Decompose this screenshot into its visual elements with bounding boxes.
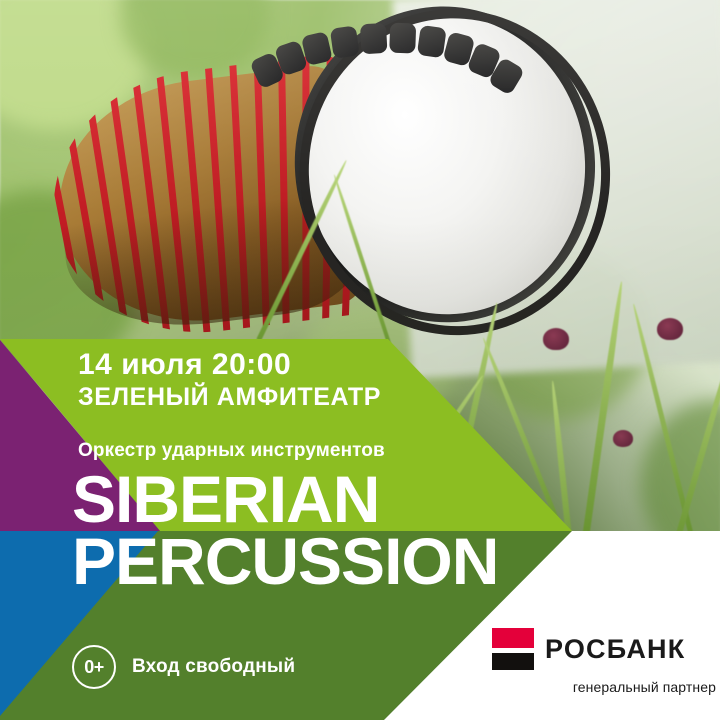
admission-row: 0+ Вход свободный xyxy=(72,645,295,689)
rosbank-square-logo-icon xyxy=(492,628,534,670)
logo-red-block xyxy=(492,628,534,648)
free-entry-label: Вход свободный xyxy=(132,656,295,678)
sponsor-name: РОСБАНК xyxy=(545,636,685,663)
event-date-time: 14 июля 20:00 xyxy=(78,350,291,381)
sponsor-role: генеральный партнер xyxy=(492,679,716,695)
event-subtitle: Оркестр ударных инструментов xyxy=(78,440,385,462)
age-rating-badge: 0+ xyxy=(72,645,116,689)
sponsor-block: РОСБАНК генеральный партнер xyxy=(492,628,716,695)
event-venue: ЗЕЛЕНЫЙ АМФИТЕАТР xyxy=(78,385,381,411)
event-title-line-2: PERCUSSION xyxy=(72,530,498,592)
sponsor-logo-row: РОСБАНК xyxy=(492,628,716,670)
event-poster: 14 июля 20:00 ЗЕЛЕНЫЙ АМФИТЕАТР Оркестр … xyxy=(0,0,720,720)
logo-black-block xyxy=(492,653,534,670)
event-title: SIBERIAN PERCUSSION xyxy=(72,468,498,592)
